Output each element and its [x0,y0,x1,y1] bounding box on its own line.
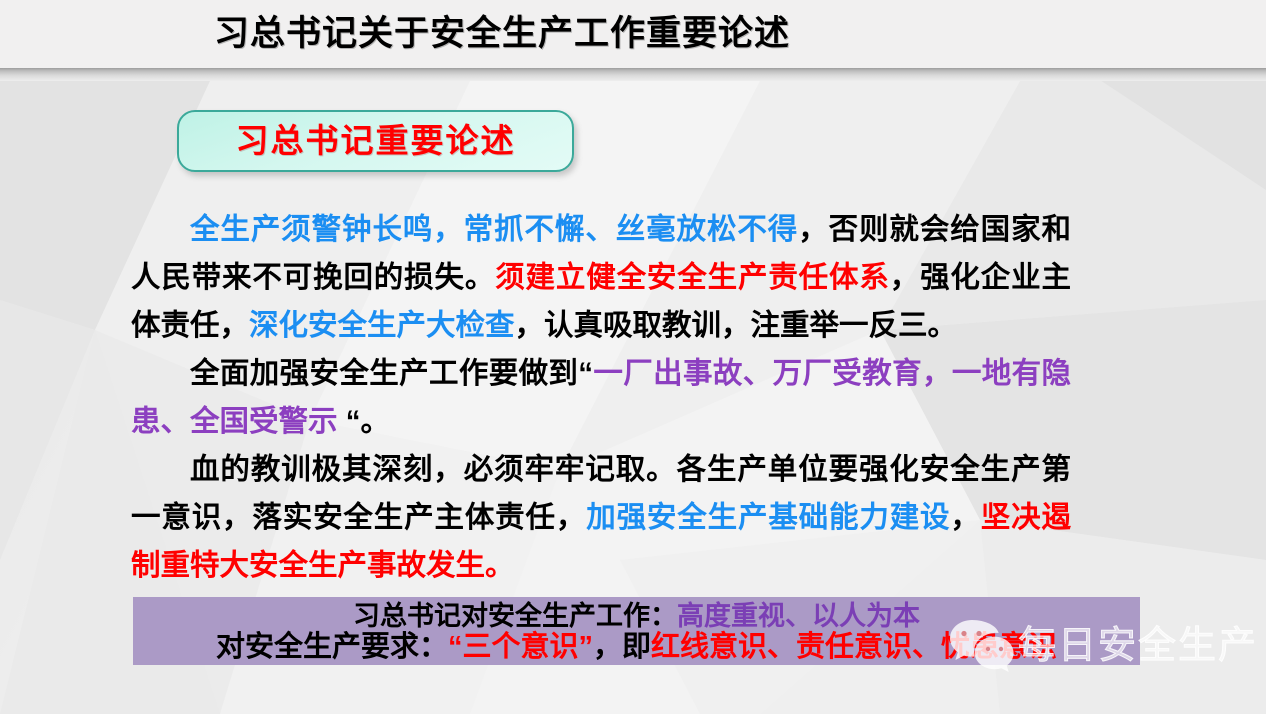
text-run-black: 全面加强安全生产工作要做到“ [190,357,593,390]
section-title-pill[interactable]: 习总书记重要论述 [177,110,574,172]
text-run-black: ，认真吸取教训，注重举一反三。 [515,309,958,342]
text-run-blue: 全生产须警钟长鸣，常抓不懈、丝毫放松不得 [190,213,798,246]
text-run-black: ， [950,501,980,534]
banner-run-black: 习总书记对安全生产工作： [353,601,677,631]
banner-run-red: 红线意识、责任意识、忧患意识 [651,631,1057,663]
paragraph-1: 全生产须警钟长鸣，常抓不懈、丝毫放松不得，否则就会给国家和人民带来不可挽回的损失… [131,206,1071,350]
banner-run-black: 对安全生产要求： [216,631,448,663]
slide-header-bar: 习总书记关于安全生产工作重要论述 [0,0,1266,68]
paragraph-3: 血的教训极其深刻，必须牢牢记取。各生产单位要强化安全生产第一意识，落实安全生产主… [131,446,1071,590]
text-run-blue: 深化安全生产大检查 [249,309,515,342]
paragraph-2: 全面加强安全生产工作要做到“一厂出事故、万厂受教育，一地有隐患、全国受警示 “。 [131,350,1071,446]
text-run-black: “。 [338,405,390,438]
banner-run-black: ，即 [593,631,651,663]
text-run-blue: 加强安全生产基础能力建设 [586,501,950,534]
header-shadow-divider [0,68,1266,81]
banner-line-2: 对安全生产要求：“三个意识”，即红线意识、责任意识、忧患意识 [133,630,1140,664]
banner-run-purple: 高度重视、以人为本 [677,601,920,631]
section-title-label: 习总书记重要论述 [179,112,572,170]
banner-run-red: “三个意识” [448,631,593,663]
body-text-block: 全生产须警钟长鸣，常抓不懈、丝毫放松不得，否则就会给国家和人民带来不可挽回的损失… [131,206,1071,590]
slide-canvas: 习总书记关于安全生产工作重要论述 法律法规 习总书记重要论述 全生产须警钟长鸣，… [0,0,1266,714]
text-run-red: 须建立健全安全生产责任体系 [495,261,890,294]
banner-line-1: 习总书记对安全生产工作：高度重视、以人为本 [133,599,1140,633]
summary-banner: 习总书记对安全生产工作：高度重视、以人为本 对安全生产要求：“三个意识”，即红线… [133,597,1140,665]
page-title: 习总书记关于安全生产工作重要论述 [0,0,1004,68]
